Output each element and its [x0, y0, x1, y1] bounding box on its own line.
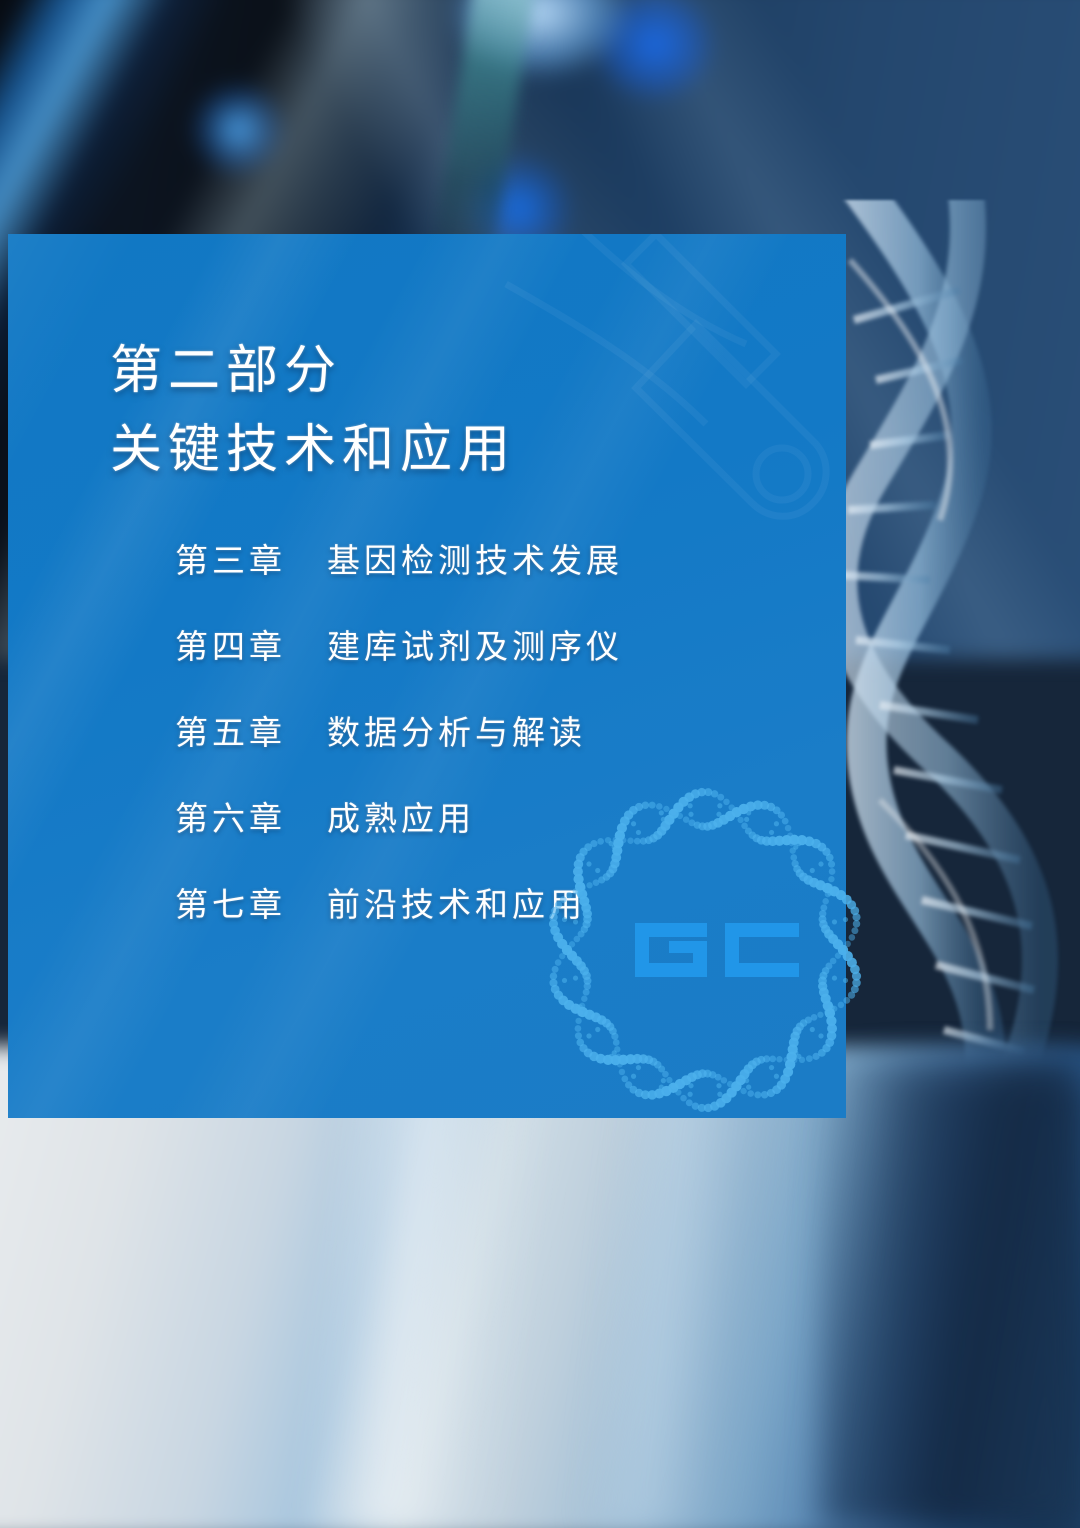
chapter-number: 第四章 [175, 620, 327, 668]
presentation-slide: 第二部分 关键技术和应用 第三章 基因检测技术发展 第四章 建库试剂及测序仪 第… [0, 0, 1080, 1528]
background-bottom-dark-edge [820, 1058, 1080, 1528]
chapter-title: 建库试剂及测序仪 [327, 620, 623, 668]
gc-wordmark-icon [633, 915, 803, 985]
background-test-tube-blur [432, 0, 538, 263]
section-heading-group: 第二部分 关键技术和应用 [110, 332, 810, 490]
list-item[interactable]: 第四章 建库试剂及测序仪 [175, 620, 835, 706]
background-bottom-streaks [0, 1088, 1080, 1528]
chapter-number: 第三章 [175, 534, 327, 582]
chapter-title: 基因检测技术发展 [327, 534, 623, 582]
brand-logo: GC [545, 775, 865, 1125]
background-bottom-photo [0, 1046, 1080, 1528]
chapter-title: 数据分析与解读 [327, 706, 586, 754]
chapter-number: 第五章 [175, 706, 327, 754]
chapter-number: 第六章 [175, 792, 327, 840]
section-part-label: 第二部分 [110, 332, 810, 411]
section-title: 关键技术和应用 [110, 411, 810, 490]
list-item[interactable]: 第三章 基因检测技术发展 [175, 534, 835, 620]
chapter-title: 成熟应用 [327, 792, 475, 840]
chapter-number: 第七章 [175, 878, 327, 926]
